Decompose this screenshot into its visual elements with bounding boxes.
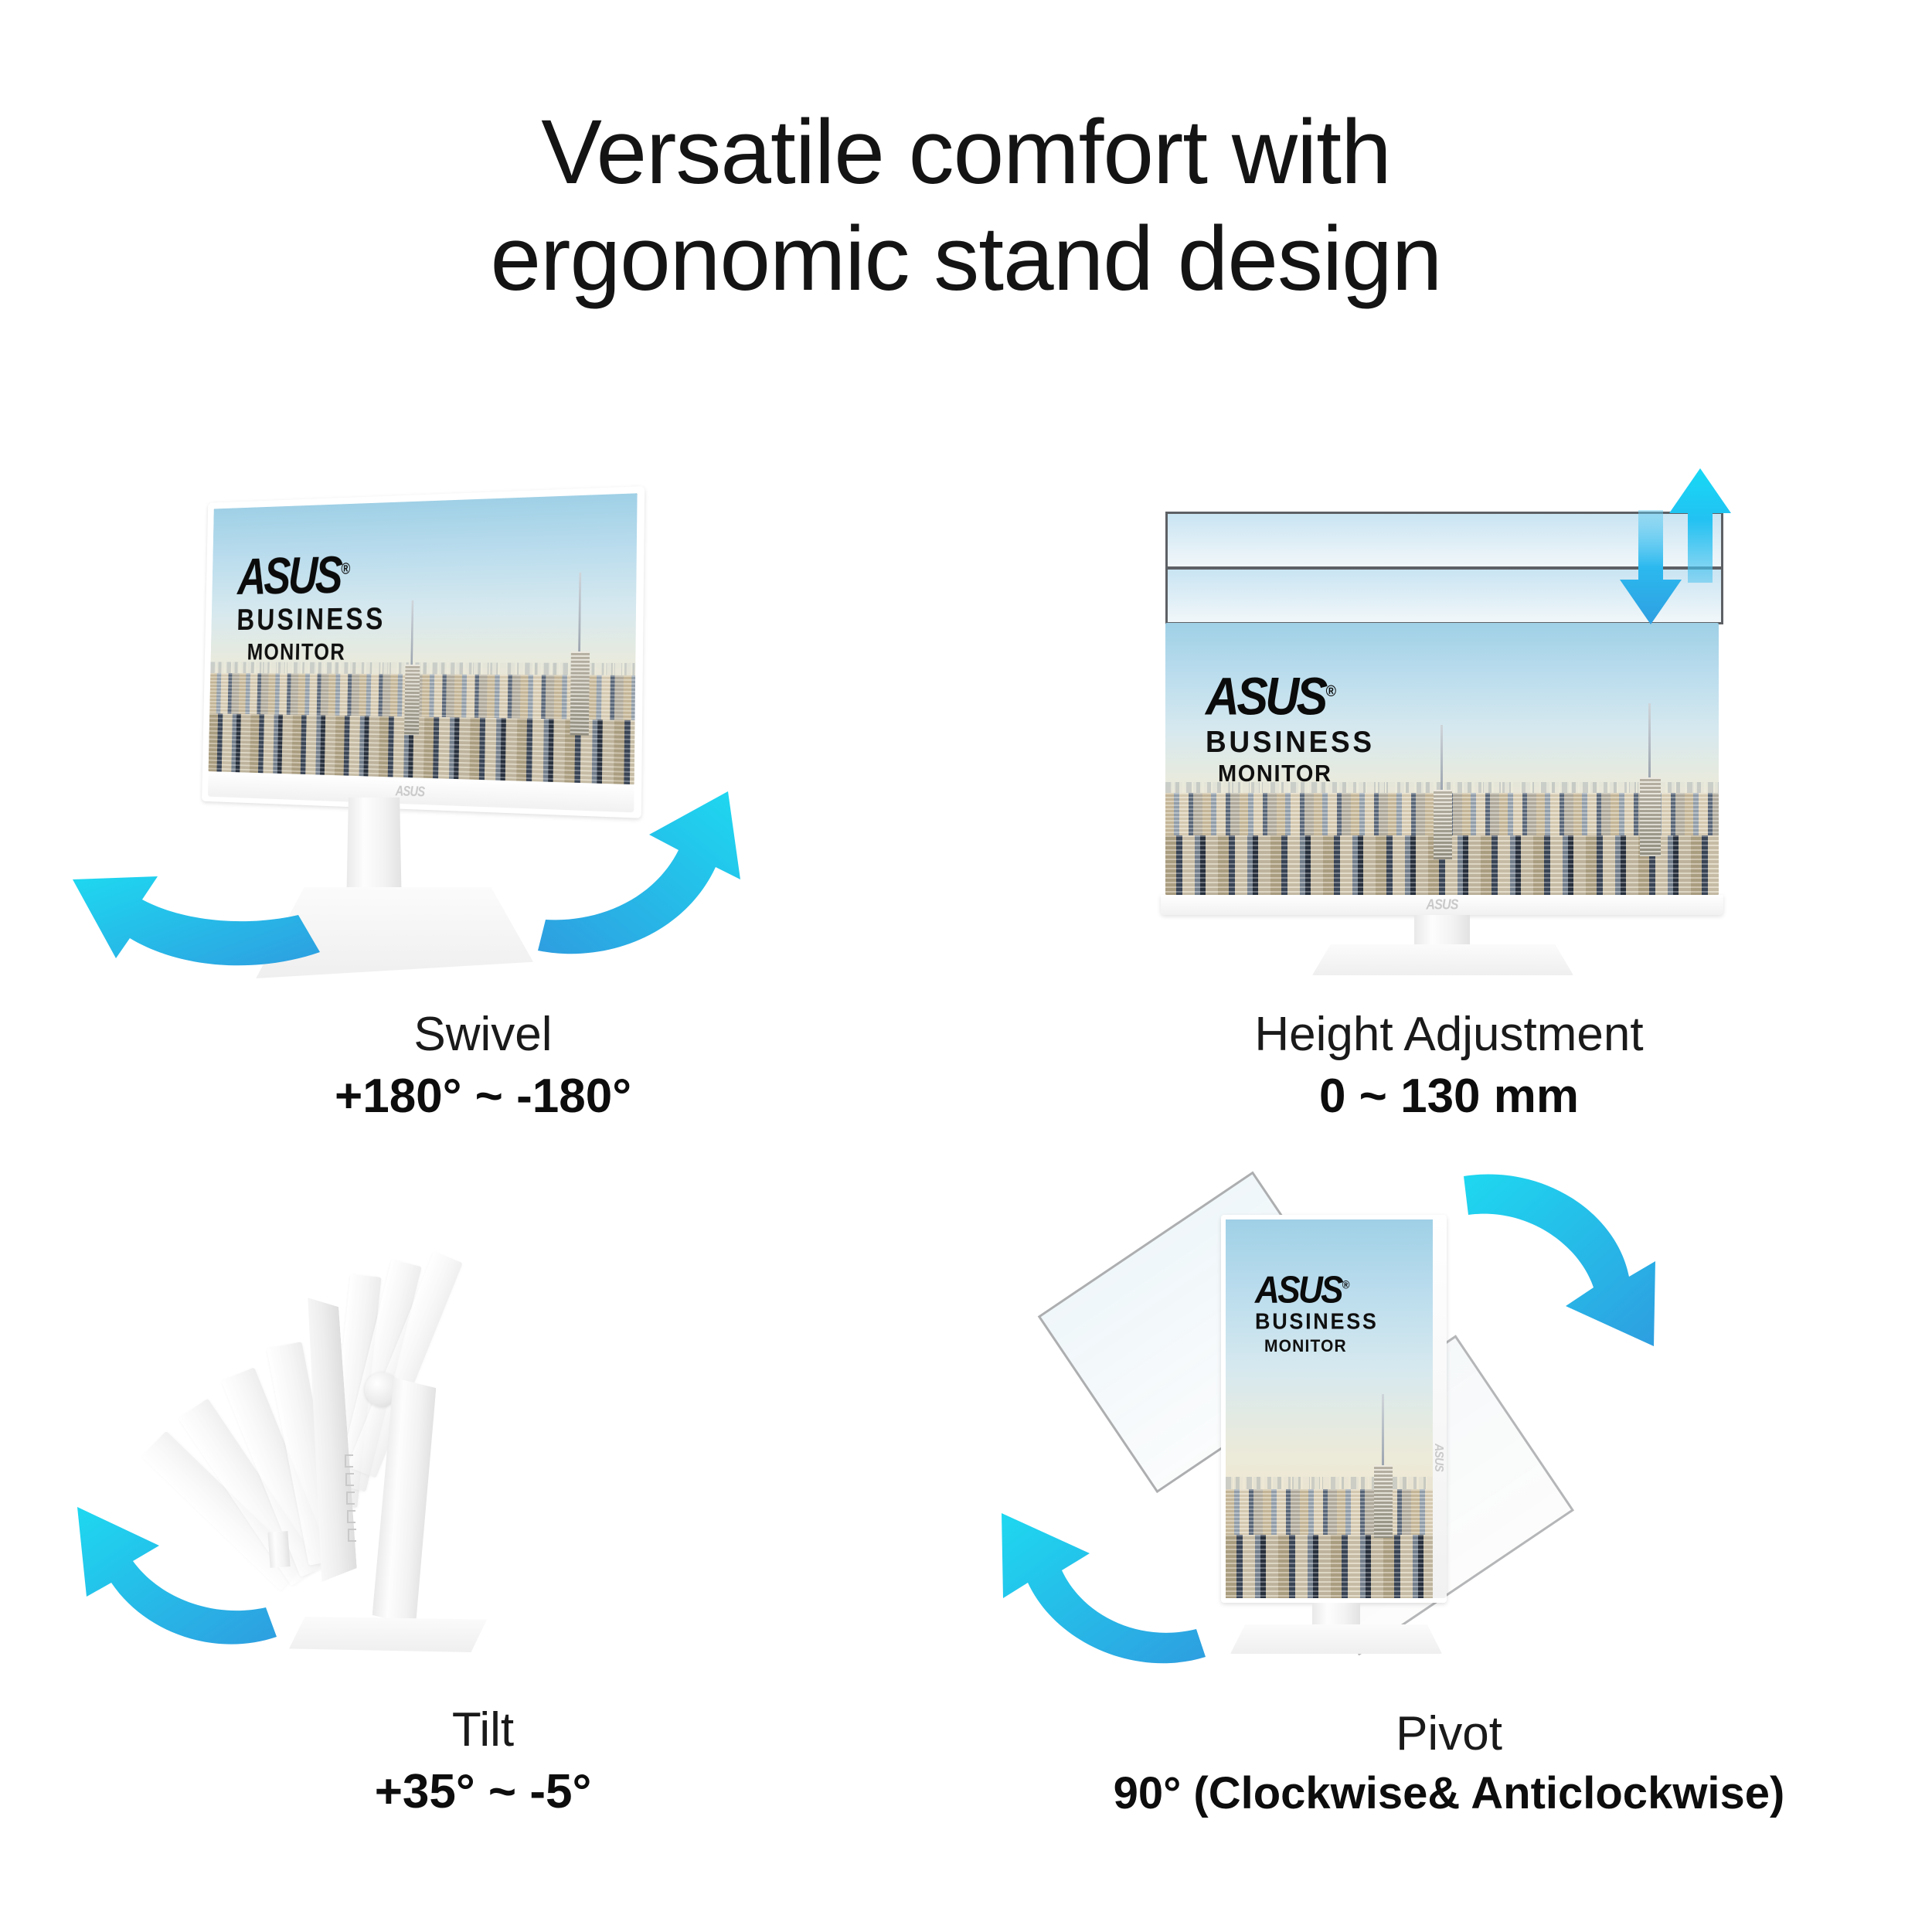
monitor-screen: ASUS® BUSINESS MONITOR [209,493,638,784]
osd-button-icon [345,1473,354,1486]
registered-icon: ® [1342,1279,1350,1292]
osd-button-icon [346,1492,355,1505]
feature-swivel: ASUS® BUSINESS MONITOR ASUS [0,464,966,1159]
feature-grid: ASUS® BUSINESS MONITOR ASUS [0,464,1932,1855]
chin-asus-logo: ASUS [396,783,425,801]
brand-line-business: BUSINESS [1255,1311,1379,1333]
height-adjustment-caption: Height Adjustment 0 ~ 130 mm [966,1008,1932,1125]
city-skyline [1226,1447,1433,1598]
monitor-height: ASUS® BUSINESS MONITOR [1165,623,1719,895]
osd-button-icon [347,1510,355,1523]
tilt-value: +35° ~ -5° [0,1764,966,1821]
screen-brand-overlay: ASUS® BUSINESS MONITOR [1206,671,1375,785]
chin-asus-logo: ASUS [1433,1444,1447,1471]
asus-wordmark: ASUS [1206,667,1325,726]
osd-button-icon [348,1529,356,1542]
pivot-clockwise-arrow-icon [1458,1159,1689,1337]
brand-line-business: BUSINESS [236,604,386,635]
height-adjustment-illustration: ASUS® BUSINESS MONITOR ASUS [966,464,1932,974]
pivot-label: Pivot [966,1707,1932,1760]
monitor-chin: ASUS [1161,895,1723,915]
pivot-anticlockwise-arrow-icon [985,1509,1216,1679]
stand-base [1312,944,1573,975]
stand-neck [1414,915,1470,949]
tilt-caption: Tilt +35° ~ -5° [0,1703,966,1821]
screen-wallpaper: ASUS® BUSINESS MONITOR [209,493,638,784]
monitor-pivot: ASUS® BUSINESS MONITOR ASUS [1221,1215,1447,1603]
swivel-value: +180° ~ -180° [0,1068,966,1125]
screen-wallpaper: ASUS® BUSINESS MONITOR [1226,1219,1433,1598]
brand-line-monitor: MONITOR [1264,1338,1379,1355]
swivel-label: Swivel [0,1008,966,1061]
brand-line-business: BUSINESS [1206,726,1375,757]
swivel-caption: Swivel +180° ~ -180° [0,1008,966,1125]
stand-base [1230,1624,1442,1654]
screen-brand-overlay: ASUS® BUSINESS MONITOR [1255,1270,1379,1354]
asus-wordmark: ASUS [1255,1267,1342,1310]
pivot-value: 90° (Clockwise& Anticlockwise) [966,1767,1932,1821]
page-title: Versatile comfort with ergonomic stand d… [0,99,1932,312]
stand-base [289,1617,487,1652]
pivot-caption: Pivot 90° (Clockwise& Anticlockwise) [966,1707,1932,1821]
height-adjustment-value: 0 ~ 130 mm [966,1068,1932,1125]
registered-icon: ® [1326,682,1336,700]
tilt-arrow-icon [66,1478,291,1655]
monitor-chin: ASUS [1433,1219,1447,1598]
height-adjustment-label: Height Adjustment [966,1008,1932,1061]
registered-icon: ® [341,560,350,578]
screen-brand-overlay: ASUS® BUSINESS MONITOR [236,549,386,662]
tilt-label: Tilt [0,1703,966,1757]
brand-line-monitor: MONITOR [247,640,385,664]
tilt-illustration [0,1159,966,1669]
height-down-arrow-icon [1618,509,1683,626]
asus-wordmark: ASUS [237,546,341,606]
screen-wallpaper: ASUS® BUSINESS MONITOR [1165,623,1719,895]
feature-height-adjustment: ASUS® BUSINESS MONITOR ASUS [966,464,1932,1159]
monitor-screen: ASUS® BUSINESS MONITOR [1165,623,1719,895]
swivel-illustration: ASUS® BUSINESS MONITOR ASUS [0,464,966,974]
brand-line-monitor: MONITOR [1218,763,1375,786]
osd-button-icon [345,1454,353,1468]
feature-tilt: Tilt +35° ~ -5° [0,1159,966,1855]
pivot-illustration: ASUS® BUSINESS MONITOR ASUS [966,1159,1932,1669]
swivel-arrow-right-icon [533,787,796,964]
chin-asus-logo: ASUS [1426,898,1458,914]
monitor-swivel: ASUS® BUSINESS MONITOR ASUS [202,486,645,818]
feature-pivot: ASUS® BUSINESS MONITOR ASUS [966,1159,1932,1855]
swivel-arrow-left-icon [65,822,328,977]
monitor-screen: ASUS® BUSINESS MONITOR [1226,1219,1433,1598]
